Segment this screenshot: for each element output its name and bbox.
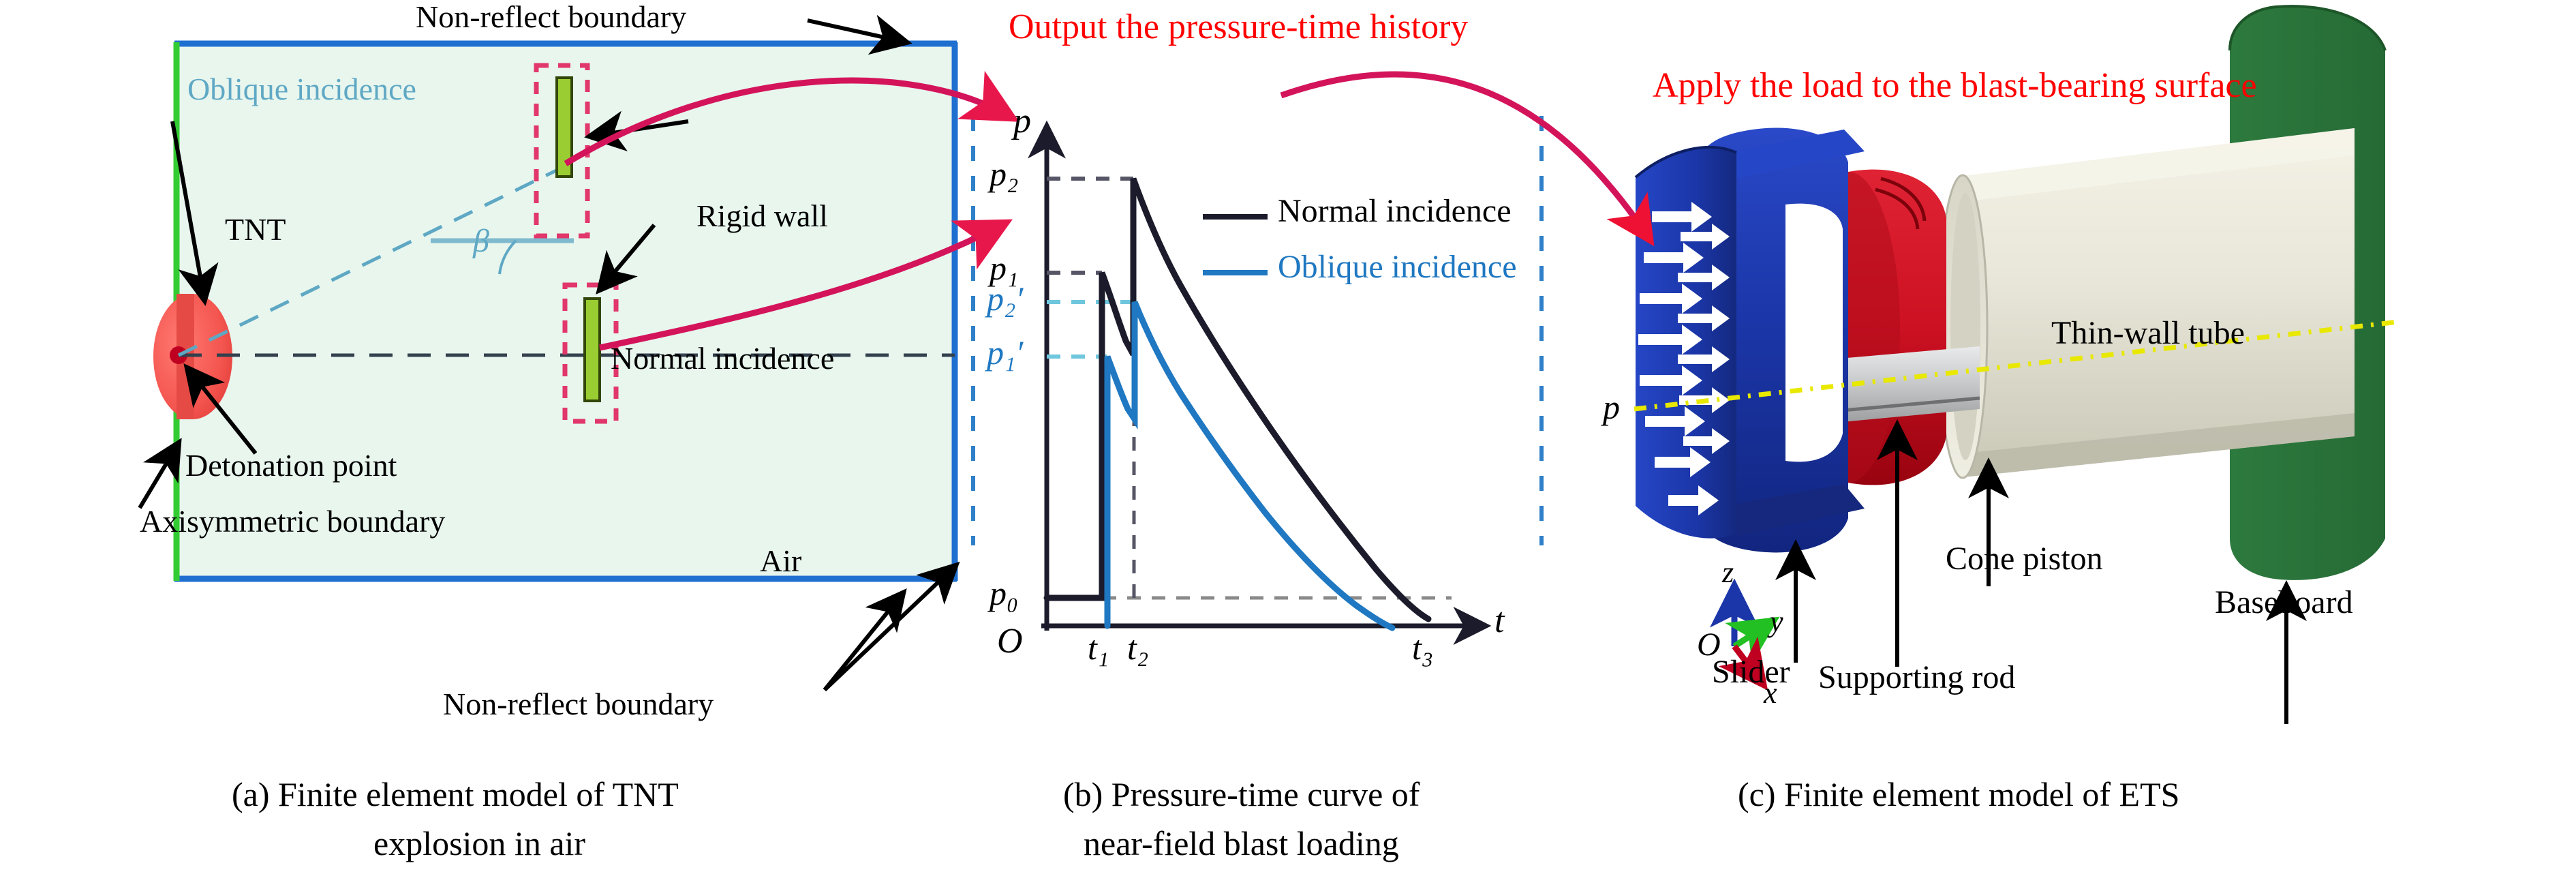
caption-b-line2: near-field blast loading	[1084, 826, 1399, 860]
label-air: Air	[760, 545, 801, 577]
caption-a-line1: (a) Finite element model of TNT	[232, 777, 679, 811]
annotation-output-pressure-time-history: Output the pressure-time history	[1009, 10, 1468, 45]
normal-rigid-wall-plate	[585, 299, 600, 401]
chart-ytick-p0: p₀	[990, 576, 1018, 610]
label-nonreflect-boundary-top: Non-reflect boundary	[416, 1, 686, 33]
chart-legend-normal-label: Normal incidence	[1278, 195, 1512, 228]
label-oblique-incidence: Oblique incidence	[187, 74, 416, 105]
label-detonation-point: Detonation point	[185, 450, 397, 481]
leader-axisymmetric-boundary	[140, 443, 179, 508]
caption-c-line1: (c) Finite element model of ETS	[1738, 777, 2179, 811]
label-slider: Slider	[1712, 656, 1790, 689]
label-rigid-wall: Rigid wall	[696, 200, 828, 232]
leader-nonreflect-bottom-2	[825, 566, 955, 690]
axis-origin-label: O	[1697, 629, 1721, 661]
chart-y-axis-label: p	[1013, 104, 1031, 139]
chart-ytick-p1prime: p₁′	[987, 335, 1023, 370]
axis-x-label: x	[1764, 678, 1777, 708]
label-normal-incidence: Normal incidence	[611, 343, 834, 374]
label-thin-wall-tube: Thin-wall tube	[2051, 317, 2245, 350]
annotation-apply-load: Apply the load to the blast-bearing surf…	[1653, 68, 2257, 104]
axis-z-label: z	[1722, 558, 1734, 588]
chart-ytick-p2prime: p₂′	[987, 282, 1023, 316]
label-axisymmetric-boundary: Axisymmetric boundary	[140, 506, 445, 537]
axis-y-label: y	[1770, 607, 1783, 637]
label-beta-angle: β	[473, 225, 489, 258]
chart-xtick-t3: t₃	[1412, 631, 1433, 665]
chart-ytick-p2: p₂	[990, 157, 1018, 191]
slider-inner-cutout	[1785, 204, 1843, 462]
label-baseboard: Baseboard	[2215, 586, 2353, 619]
chart-xtick-t1: t₁	[1088, 631, 1109, 665]
curve-normal-incidence	[1047, 179, 1428, 619]
figure-canvas	[0, 0, 2576, 874]
curve-oblique-incidence	[1107, 302, 1392, 628]
chart-xtick-t2: t₂	[1127, 631, 1148, 665]
caption-b-line1: (b) Pressure-time curve of	[1063, 777, 1420, 811]
leader-nonreflect-bottom-1	[825, 593, 903, 690]
label-supporting-rod: Supporting rod	[1818, 661, 2015, 694]
label-pressure-symbol: p	[1603, 390, 1620, 424]
label-cone-piston: Cone piston	[1946, 543, 2103, 575]
label-tnt: TNT	[225, 214, 286, 245]
caption-a-line2: explosion in air	[373, 826, 585, 860]
chart-x-axis-label: t	[1494, 603, 1504, 639]
figure-root: Non-reflect boundary Oblique incidence β…	[0, 0, 2576, 874]
leader-nonreflect-top	[808, 20, 906, 42]
chart-legend-oblique-label: Oblique incidence	[1278, 251, 1517, 284]
axis-y-arrow	[1734, 622, 1772, 646]
chart-origin-label: O	[997, 624, 1023, 659]
label-nonreflect-boundary-bottom: Non-reflect boundary	[443, 689, 714, 720]
thin-wall-tube-inner-bore	[1950, 193, 1980, 460]
